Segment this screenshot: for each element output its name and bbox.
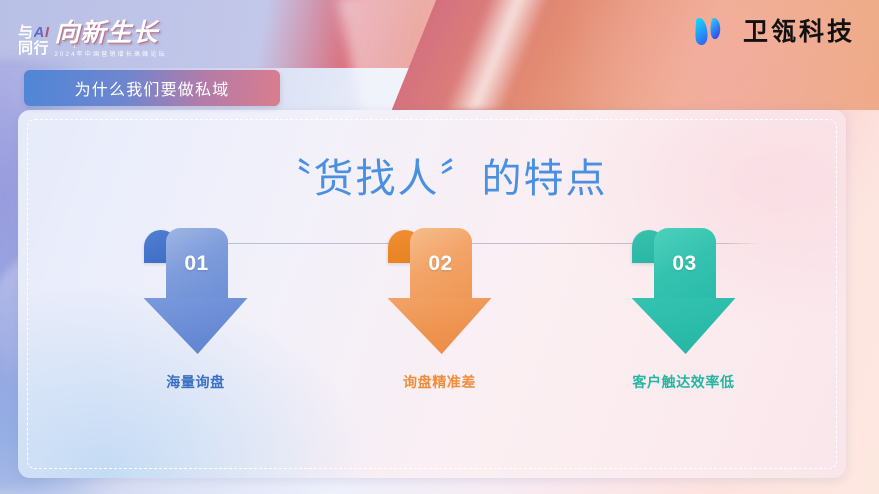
arrow-number: 02	[410, 252, 472, 276]
slide-canvas: 与AI 同行 向新生长 2024年中国营销增长高峰论坛	[0, 0, 879, 494]
down-arrow-icon: 03	[632, 228, 736, 354]
event-logo-tagline-row1: 与AI	[18, 25, 50, 40]
section-banner-label: 为什么我们要做私域	[75, 76, 230, 100]
arrow-label: 询盘精准差	[403, 372, 476, 392]
event-logo-subtitle: 2024年中国营销增长高峰论坛	[55, 49, 167, 58]
arrow-item-03: 03 客户触达效率低	[624, 228, 744, 392]
event-logo-title: 向新生长	[55, 21, 167, 46]
section-banner: 为什么我们要做私域	[24, 70, 280, 106]
brand-name: 卫瓴科技	[743, 20, 855, 45]
event-logo: 与AI 同行 向新生长 2024年中国营销增长高峰论坛	[18, 8, 167, 60]
w-mark-icon	[693, 17, 733, 47]
event-logo-tagline-row2: 同行	[18, 41, 50, 56]
down-arrow-icon: 01	[144, 228, 248, 354]
down-arrow-icon: 02	[388, 228, 492, 354]
arrow-label: 海量询盘	[166, 372, 224, 392]
page-title: 〝货找人〞的特点	[0, 146, 879, 204]
brand-logo: 卫瓴科技	[693, 12, 855, 52]
event-logo-tagline: 与AI 同行	[18, 25, 50, 60]
arrow-label: 客户触达效率低	[632, 372, 734, 392]
arrow-group: 01 海量询盘 02 询盘精准差 03 客户触达效率低	[0, 228, 879, 392]
arrow-head	[632, 298, 736, 354]
event-logo-tagline-prefix: 与	[18, 24, 34, 41]
event-logo-main: 向新生长 2024年中国营销增长高峰论坛	[55, 21, 167, 60]
arrow-number: 01	[166, 252, 228, 276]
arrow-number: 03	[654, 252, 716, 276]
event-logo-ai-text: AI	[34, 24, 50, 41]
arrow-item-02: 02 询盘精准差	[380, 228, 500, 392]
arrow-head	[388, 298, 492, 354]
arrow-item-01: 01 海量询盘	[136, 228, 256, 392]
arrow-head	[144, 298, 248, 354]
